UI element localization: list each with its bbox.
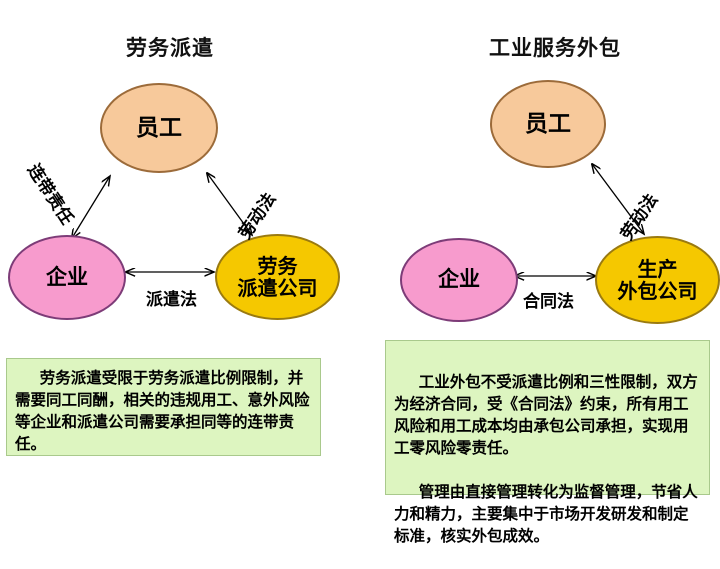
node-right-enterprise[interactable]: 企业	[400, 238, 518, 322]
note-box-right-paragraph-1: 工业外包不受派遣比例和三性限制，双方为经济合同，受《合同法》约束，所有用工风险和…	[394, 371, 700, 459]
node-left-dispatch-company[interactable]: 劳务 派遣公司	[215, 234, 340, 320]
edge-label-right-contract-law: 合同法	[523, 287, 574, 312]
node-right-outsourcing-company[interactable]: 生产 外包公司	[595, 236, 720, 324]
edge-label-left-dispatch-law: 派遣法	[146, 285, 197, 310]
panel-title-left: 劳务派遣	[60, 32, 280, 62]
diagram-canvas: 劳务派遣 员工 企业 劳务 派遣公司 连带责任 劳动法 派遣法 劳务派遣受限于劳…	[0, 0, 720, 540]
node-left-employee[interactable]: 员工	[100, 83, 218, 173]
arrow-left-joint-liability	[72, 176, 110, 238]
note-box-right-paragraph-2: 管理由直接管理转化为监督管理，节省人力和精力，主要集中于市场开发研发和制定标准，…	[394, 481, 700, 547]
note-box-right: 工业外包不受派遣比例和三性限制，双方为经济合同，受《合同法》约束，所有用工风险和…	[385, 340, 710, 495]
panel-title-right: 工业服务外包	[430, 32, 680, 62]
edge-label-left-joint-liability: 连带责任	[23, 158, 81, 229]
node-right-employee[interactable]: 员工	[490, 80, 606, 168]
node-left-enterprise[interactable]: 企业	[8, 235, 126, 320]
note-box-left: 劳务派遣受限于劳务派遣比例限制，并需要同工同酬，相关的违规用工、意外风险等企业和…	[6, 358, 321, 456]
